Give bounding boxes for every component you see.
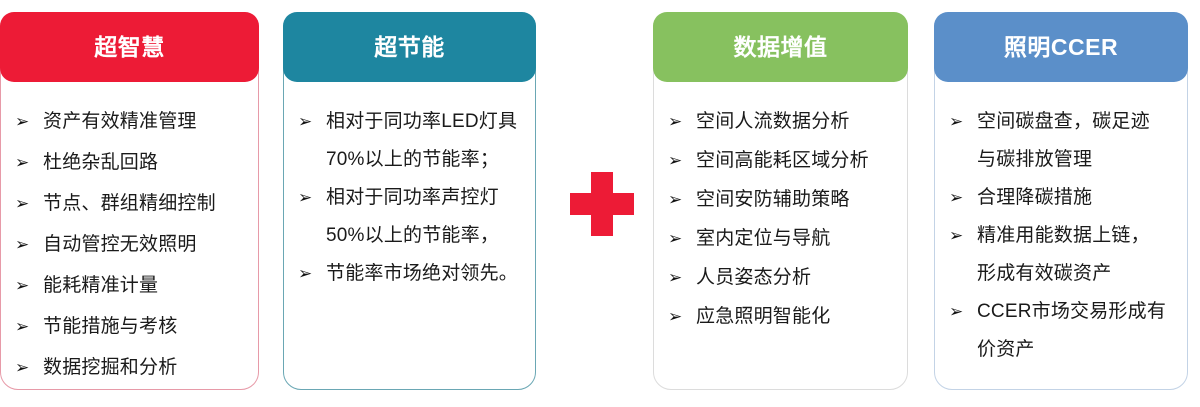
list-item: ➢ 资产有效精准管理 [11,103,246,141]
list-item-label: 精准用能数据上链，形成有效碳资产 [977,217,1175,293]
list-item: ➢ 数据挖掘和分析 [11,349,246,387]
feature-list: ➢ 资产有效精准管理 ➢ 杜绝杂乱回路 ➢ 节点、群组精细控制 ➢ 自动管控无效… [11,103,246,387]
list-item: ➢ 节点、群组精细控制 [11,185,246,223]
list-item-label: 人员姿态分析 [696,259,895,297]
arrow-bullet-icon: ➢ [15,349,35,387]
arrow-bullet-icon: ➢ [949,293,969,331]
list-item: ➢ 相对于同功率LED灯具70%以上的节能率； [294,103,523,179]
arrow-bullet-icon: ➢ [949,179,969,217]
arrow-bullet-icon: ➢ [15,103,35,141]
list-item: ➢ 室内定位与导航 [664,220,895,258]
list-item-label: 节能措施与考核 [43,308,246,346]
plus-bar-vertical [591,172,613,236]
feature-card-chao-jie-neng: ➢ 相对于同功率LED灯具70%以上的节能率； ➢ 相对于同功率声控灯50%以上… [283,12,536,390]
card-header: 照明CCER [934,12,1188,82]
list-item: ➢ 能耗精准计量 [11,267,246,305]
arrow-bullet-icon: ➢ [668,103,688,141]
list-item-label: 能耗精准计量 [43,267,246,305]
list-item: ➢ CCER市场交易形成有价资产 [945,293,1175,369]
list-item: ➢ 节能措施与考核 [11,308,246,346]
card-body: ➢ 相对于同功率LED灯具70%以上的节能率； ➢ 相对于同功率声控灯50%以上… [283,48,536,390]
list-item-label: 室内定位与导航 [696,220,895,258]
arrow-bullet-icon: ➢ [668,181,688,219]
feature-list: ➢ 相对于同功率LED灯具70%以上的节能率； ➢ 相对于同功率声控灯50%以上… [294,103,523,293]
arrow-bullet-icon: ➢ [15,226,35,264]
arrow-bullet-icon: ➢ [15,185,35,223]
feature-card-zhao-ming-ccer: ➢ 空间碳盘查，碳足迹与碳排放管理 ➢ 合理降碳措施 ➢ 精准用能数据上链，形成… [934,12,1188,390]
arrow-bullet-icon: ➢ [668,259,688,297]
list-item: ➢ 空间人流数据分析 [664,103,895,141]
list-item-label: 空间碳盘查，碳足迹与碳排放管理 [977,103,1175,179]
feature-card-chao-zhi-hui: ➢ 资产有效精准管理 ➢ 杜绝杂乱回路 ➢ 节点、群组精细控制 ➢ 自动管控无效… [0,12,259,390]
list-item: ➢ 自动管控无效照明 [11,226,246,264]
arrow-bullet-icon: ➢ [298,103,318,141]
card-header: 超智慧 [0,12,259,82]
arrow-bullet-icon: ➢ [298,179,318,217]
list-item-label: 空间人流数据分析 [696,103,895,141]
list-item-label: 空间高能耗区域分析 [696,142,895,180]
list-item-label: 节能率市场绝对领先。 [326,255,523,293]
list-item: ➢ 相对于同功率声控灯50%以上的节能率， [294,179,523,255]
list-item: ➢ 应急照明智能化 [664,298,895,336]
list-item: ➢ 杜绝杂乱回路 [11,144,246,182]
feature-cards-board: ➢ 资产有效精准管理 ➢ 杜绝杂乱回路 ➢ 节点、群组精细控制 ➢ 自动管控无效… [0,0,1200,407]
arrow-bullet-icon: ➢ [15,308,35,346]
list-item-label: 资产有效精准管理 [43,103,246,141]
list-item: ➢ 空间安防辅助策略 [664,181,895,219]
list-item: ➢ 精准用能数据上链，形成有效碳资产 [945,217,1175,293]
plus-icon [570,172,634,236]
card-title: 照明CCER [1004,36,1118,59]
card-body: ➢ 空间人流数据分析 ➢ 空间高能耗区域分析 ➢ 空间安防辅助策略 ➢ 室内定位… [653,48,908,390]
list-item-label: 相对于同功率声控灯50%以上的节能率， [326,179,523,255]
feature-list: ➢ 空间碳盘查，碳足迹与碳排放管理 ➢ 合理降碳措施 ➢ 精准用能数据上链，形成… [945,103,1175,369]
arrow-bullet-icon: ➢ [949,103,969,141]
list-item: ➢ 合理降碳措施 [945,179,1175,217]
card-title: 超节能 [374,36,445,59]
list-item-label: 节点、群组精细控制 [43,185,246,223]
arrow-bullet-icon: ➢ [668,220,688,258]
card-header: 数据增值 [653,12,908,82]
list-item-label: CCER市场交易形成有价资产 [977,293,1175,369]
list-item-label: 空间安防辅助策略 [696,181,895,219]
list-item-label: 自动管控无效照明 [43,226,246,264]
arrow-bullet-icon: ➢ [668,298,688,336]
card-body: ➢ 资产有效精准管理 ➢ 杜绝杂乱回路 ➢ 节点、群组精细控制 ➢ 自动管控无效… [0,48,259,390]
card-header: 超节能 [283,12,536,82]
card-body: ➢ 空间碳盘查，碳足迹与碳排放管理 ➢ 合理降碳措施 ➢ 精准用能数据上链，形成… [934,48,1188,390]
list-item: ➢ 空间高能耗区域分析 [664,142,895,180]
list-item-label: 杜绝杂乱回路 [43,144,246,182]
list-item: ➢ 节能率市场绝对领先。 [294,255,523,293]
feature-card-shu-ju-zeng-zhi: ➢ 空间人流数据分析 ➢ 空间高能耗区域分析 ➢ 空间安防辅助策略 ➢ 室内定位… [653,12,908,390]
list-item-label: 应急照明智能化 [696,298,895,336]
list-item: ➢ 空间碳盘查，碳足迹与碳排放管理 [945,103,1175,179]
arrow-bullet-icon: ➢ [949,217,969,255]
arrow-bullet-icon: ➢ [668,142,688,180]
list-item-label: 相对于同功率LED灯具70%以上的节能率； [326,103,523,179]
card-title: 超智慧 [94,36,165,59]
feature-list: ➢ 空间人流数据分析 ➢ 空间高能耗区域分析 ➢ 空间安防辅助策略 ➢ 室内定位… [664,103,895,336]
list-item-label: 合理降碳措施 [977,179,1175,217]
card-title: 数据增值 [734,36,828,59]
list-item: ➢ 人员姿态分析 [664,259,895,297]
arrow-bullet-icon: ➢ [15,144,35,182]
arrow-bullet-icon: ➢ [298,255,318,293]
arrow-bullet-icon: ➢ [15,267,35,305]
list-item-label: 数据挖掘和分析 [43,349,246,387]
